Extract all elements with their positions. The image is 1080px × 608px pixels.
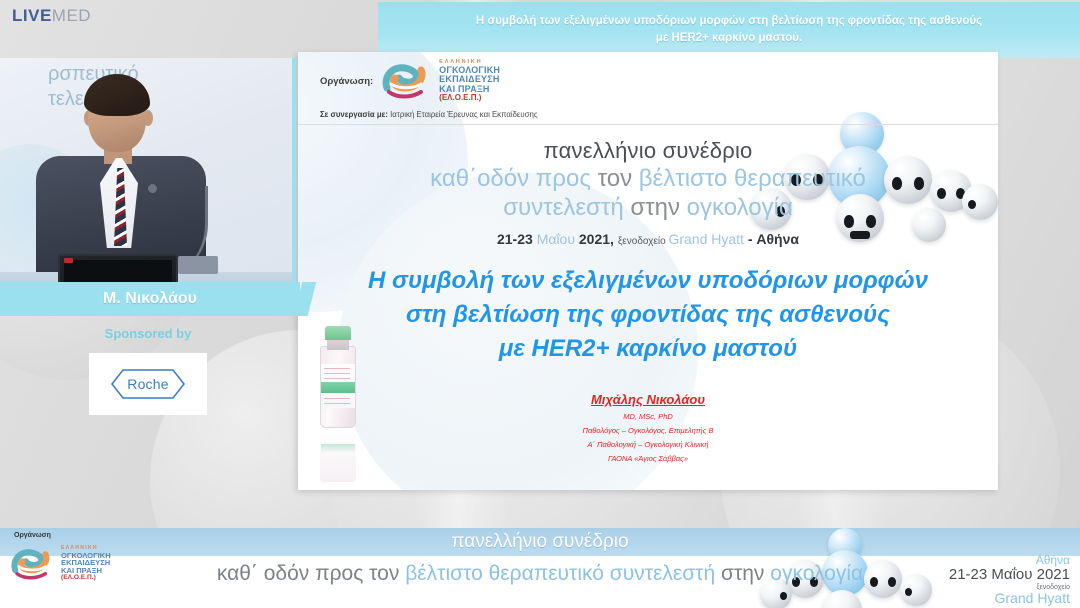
conf-l3-c: ογκολογία — [687, 194, 793, 221]
desk-device — [178, 256, 218, 274]
session-title-text: Η συμβολή των εξελιγμένων υποδόριων μορφ… — [460, 13, 998, 46]
livemed-logo[interactable]: LIVEMED — [12, 6, 91, 26]
conf-l2-b: τον — [598, 165, 639, 192]
conference-line1: πανελλήνιο συνέδριο — [298, 138, 998, 164]
footer-venue-hotel: Grand Hyatt — [949, 591, 1070, 606]
conference-date-line: 21-23 Μαΐου 2021, ξενοδοχείο Grand Hyatt… — [298, 231, 998, 247]
slide-speaker-hospital: ΓΑΟΝΑ «Άγιος Σάββας» — [298, 454, 998, 463]
eloep-logo: ΕΛΛΗΝΙΚΗ ΟΓΚΟΛΟΓΙΚΗ ΕΚΠΑΙΔΕΥΣΗ ΚΑΙ ΠΡΑΞΗ… — [381, 60, 500, 102]
slide-header: Οργάνωση: ΕΛΛΗΝΙΚΗ ΟΓΚΟΛΟΓΙΚΗ ΕΚΠΑΙΔΕΥΣΗ… — [298, 52, 998, 125]
vial-label-band — [321, 382, 355, 393]
slide-speaker-name: Μιχάλης Νικολάου — [298, 392, 998, 407]
cooperation-value: Ιατρική Εταιρεία Έρευνας και Εκπαίδευσης — [390, 110, 537, 119]
slide-speaker-degrees: MD, MSc, PhD — [298, 412, 998, 421]
laptop-logo — [64, 258, 73, 263]
conference-line3: συντελεστή στην ογκολογία — [298, 193, 998, 222]
conf-date-d: ξενοδοχείο — [618, 236, 669, 247]
footer-tagline: καθ΄ οδόν προς τον βέλτιστο θεραπευτικό … — [0, 562, 1080, 585]
slide-speaker-dept: Α΄ Παθολογική – Ογκολογική Κλινική — [298, 440, 998, 449]
footer-venue-dates: 21-23 Μαΐου 2021 — [949, 567, 1070, 584]
vial-label-line — [324, 378, 350, 379]
speaker-name-bar: Μ. Νικολάου — [0, 282, 300, 316]
footer-tag-b: βέλτιστο θεραπευτικό συντελεστή — [405, 562, 721, 585]
vial-label-line — [324, 403, 350, 404]
speaker-name-label: Μ. Νικολάου — [103, 290, 197, 308]
conf-l2-c: βέλτιστο θεραπευτικό — [639, 165, 866, 192]
header-divider — [298, 124, 998, 125]
projected-line-1: ρσπευτικό — [48, 62, 296, 87]
slide-title-line2: στη βελτίωση της φροντίδας της ασθενούς — [334, 298, 962, 332]
vial-label-line — [324, 398, 350, 399]
vial-cap — [325, 326, 351, 340]
speaker-video-panel[interactable]: ρσπευτικό τελεστή στι — [0, 58, 296, 298]
footer-tag-a: καθ΄ οδόν προς τον — [217, 562, 405, 585]
vial-reflection — [320, 430, 356, 482]
eloep-logo-text: ΕΛΛΗΝΙΚΗ ΟΓΚΟΛΟΓΙΚΗ ΕΚΠΑΙΔΕΥΣΗ ΚΑΙ ΠΡΑΞΗ… — [439, 60, 500, 102]
conf-date-c: 2021, — [579, 231, 618, 247]
microphone-head — [148, 184, 157, 193]
conf-date-e: Grand Hyatt — [668, 231, 743, 247]
conference-footer: πανελλήνιο συνέδριο Οργάνωση ΕΛΛΗΝΙΚΗ ΟΓ… — [0, 528, 1080, 608]
footer-eloep-logo: ΕΛΛΗΝΙΚΗ ΟΓΚΟΛΟΓΙΚΗ ΕΚΠΑΙΔΕΥΣΗ ΚΑΙ ΠΡΑΞΗ… — [10, 542, 111, 586]
footer-eloep-text: ΕΛΛΗΝΙΚΗ ΟΓΚΟΛΟΓΙΚΗ ΕΚΠΑΙΔΕΥΣΗ ΚΑΙ ΠΡΑΞΗ… — [61, 546, 111, 581]
footer-eloep-line5: (ΕΛ.Ο.Ε.Π.) — [61, 575, 111, 582]
footer-organizer-label: Οργάνωση — [14, 532, 51, 539]
conf-date-a: 21-23 — [497, 231, 537, 247]
roche-logo: Roche — [111, 369, 185, 399]
vial-label-line — [324, 373, 350, 374]
conf-l3-a: συντελεστή — [503, 194, 630, 221]
slide-title-line3: με HER2+ καρκίνο μαστού — [334, 332, 962, 366]
organizer-label: Οργάνωση: — [320, 76, 373, 87]
session-title-line1: Η συμβολή των εξελιγμένων υποδόριων μορφ… — [476, 13, 982, 30]
vial-reflection-band — [321, 444, 355, 453]
footer-tag-d: ογκολογία — [770, 562, 863, 585]
presentation-slide[interactable]: Οργάνωση: ΕΛΛΗΝΙΚΗ ΟΓΚΟΛΟΓΙΚΗ ΕΚΠΑΙΔΕΥΣΗ… — [298, 52, 998, 490]
footer-venue-block: Αθήνα 21-23 Μαΐου 2021 ξενοδοχείο Grand … — [949, 554, 1070, 607]
vial-label-line — [324, 368, 350, 369]
conf-l2-a: καθ΄οδόν προς — [430, 165, 597, 192]
sponsor-section: Sponsored by Roche — [0, 326, 296, 415]
session-title-line2: με HER2+ καρκίνο μαστού. — [476, 30, 982, 47]
conf-l3-b: στην — [630, 194, 686, 221]
conference-identity: πανελλήνιο συνέδριο καθ΄οδόν προς τον βέ… — [298, 138, 998, 247]
roche-logo-text: Roche — [127, 376, 168, 392]
slide-main-title: Η συμβολή των εξελιγμένων υποδόριων μορφ… — [298, 264, 998, 366]
conf-date-b: Μαΐου — [537, 231, 579, 247]
organizer-row: Οργάνωση: ΕΛΛΗΝΙΚΗ ΟΓΚΟΛΟΓΙΚΗ ΕΚΠΑΙΔΕΥΣΗ… — [298, 52, 998, 102]
slide-title-line1: Η συμβολή των εξελιγμένων υποδόριων μορφ… — [334, 264, 962, 298]
slide-speaker-block: Μιχάλης Νικολάου MD, MSc, PhD Παθολόγος … — [298, 392, 998, 463]
drug-vial-image — [316, 320, 360, 490]
brand-med-text: MED — [52, 6, 91, 25]
sponsor-logo-card[interactable]: Roche — [89, 353, 207, 415]
eloep-swirl-icon — [381, 60, 433, 102]
cooperation-label: Σε συνεργασία με: — [320, 110, 388, 119]
sponsored-by-label: Sponsored by — [0, 326, 296, 341]
conference-line2: καθ΄οδόν προς τον βέλτιστο θεραπευτικό — [298, 164, 998, 193]
footer-tag-c: στην — [721, 562, 770, 585]
slide-speaker-role: Παθολόγος – Ογκολόγος, Επιμελητής Β — [298, 426, 998, 435]
conf-date-f: - Αθήνα — [744, 231, 799, 247]
session-title-bar: Η συμβολή των εξελιγμένων υποδόριων μορφ… — [378, 2, 1080, 58]
cooperation-row: Σε συνεργασία με: Ιατρική Εταιρεία Έρευν… — [298, 102, 998, 124]
brand-live-text: LIVE — [12, 6, 52, 25]
eloep-line5: (ΕΛ.Ο.Ε.Π.) — [439, 94, 500, 102]
footer-eloep-swirl-icon — [10, 542, 56, 586]
